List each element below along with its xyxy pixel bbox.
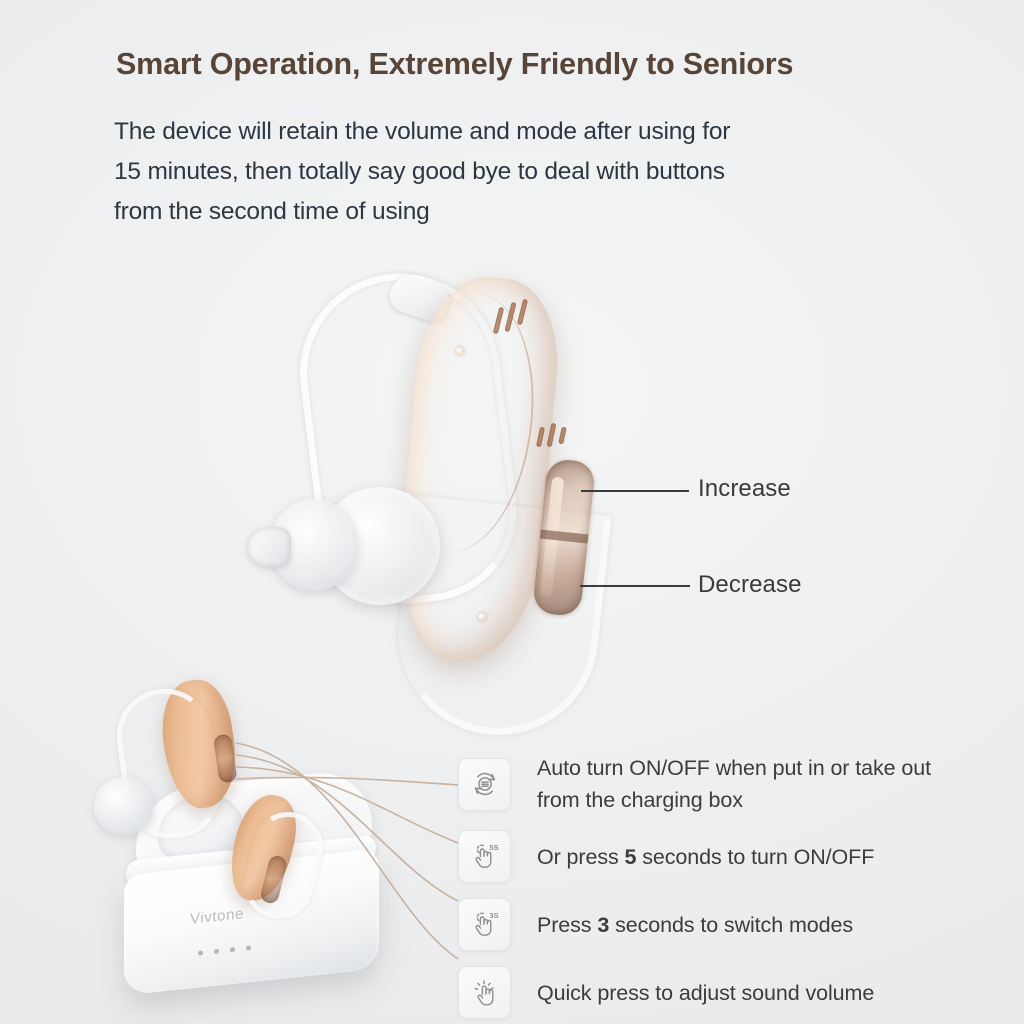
microphone-vent [558, 427, 566, 445]
feature-text-bold: 3 [597, 913, 609, 937]
feature-text-suffix: seconds to turn ON/OFF [636, 845, 874, 869]
feature-row-press-5s: 5S Or press 5 seconds to turn ON/OFF [458, 830, 978, 883]
ear-dome-tip [247, 527, 291, 567]
led-dot [230, 947, 235, 953]
feature-text: Quick press to adjust sound volume [537, 977, 874, 1009]
page-subtitle: The device will retain the volume and mo… [114, 112, 934, 232]
callout-label-increase: Increase [698, 475, 791, 503]
led-indicator [456, 347, 464, 355]
press-duration-badge: 5S [489, 843, 498, 852]
feature-text-prefix: Press [537, 913, 597, 937]
subtitle-line-2: 15 minutes, then totally say good bye to… [114, 152, 934, 192]
feature-row-press-3s: 3S Press 3 seconds to switch modes [458, 898, 978, 951]
press-duration-badge: 3S [489, 911, 498, 920]
hearing-aid-hero-image: Increase Decrease [250, 255, 890, 675]
feature-text: Press 3 seconds to switch modes [537, 909, 853, 941]
feature-list: Auto turn ON/OFF when put in or take out… [458, 752, 978, 1024]
connector-line-4 [236, 743, 458, 959]
feature-row-quick-press: Quick press to adjust sound volume [458, 966, 978, 1019]
led-dot [198, 950, 203, 956]
callout-leader-line-decrease [580, 585, 690, 587]
hearing-aid-left-unit [155, 676, 242, 812]
led-indicator [478, 613, 486, 621]
infographic-canvas: Smart Operation, Extremely Friendly to S… [0, 0, 1024, 1024]
hand-press-hold-icon: 3S [458, 898, 511, 951]
connector-lines [236, 735, 486, 995]
auto-sync-icon [458, 758, 511, 811]
led-dot [214, 949, 219, 955]
tap-burst-lines [475, 981, 493, 989]
subtitle-line-3: from the second time of using [114, 192, 934, 232]
feature-text-suffix: seconds to switch modes [609, 913, 853, 937]
hand-press-hold-icon: 5S [458, 830, 511, 883]
feature-text-main: Auto turn ON/OFF when put in or take out… [537, 756, 931, 812]
feature-text-prefix: Or press [537, 845, 625, 869]
hand-quick-tap-icon [458, 966, 511, 1019]
feature-row-auto-on-off: Auto turn ON/OFF when put in or take out… [458, 752, 978, 816]
feature-text-bold: 5 [625, 845, 637, 869]
feature-text: Or press 5 seconds to turn ON/OFF [537, 841, 874, 873]
connector-line-1 [236, 777, 458, 785]
callout-leader-line-increase [581, 490, 689, 492]
feature-text-main: Quick press to adjust sound volume [537, 981, 874, 1005]
page-title: Smart Operation, Extremely Friendly to S… [116, 47, 976, 82]
callout-label-decrease: Decrease [698, 571, 802, 599]
subtitle-line-1: The device will retain the volume and mo… [114, 112, 934, 152]
feature-text: Auto turn ON/OFF when put in or take out… [537, 752, 967, 816]
